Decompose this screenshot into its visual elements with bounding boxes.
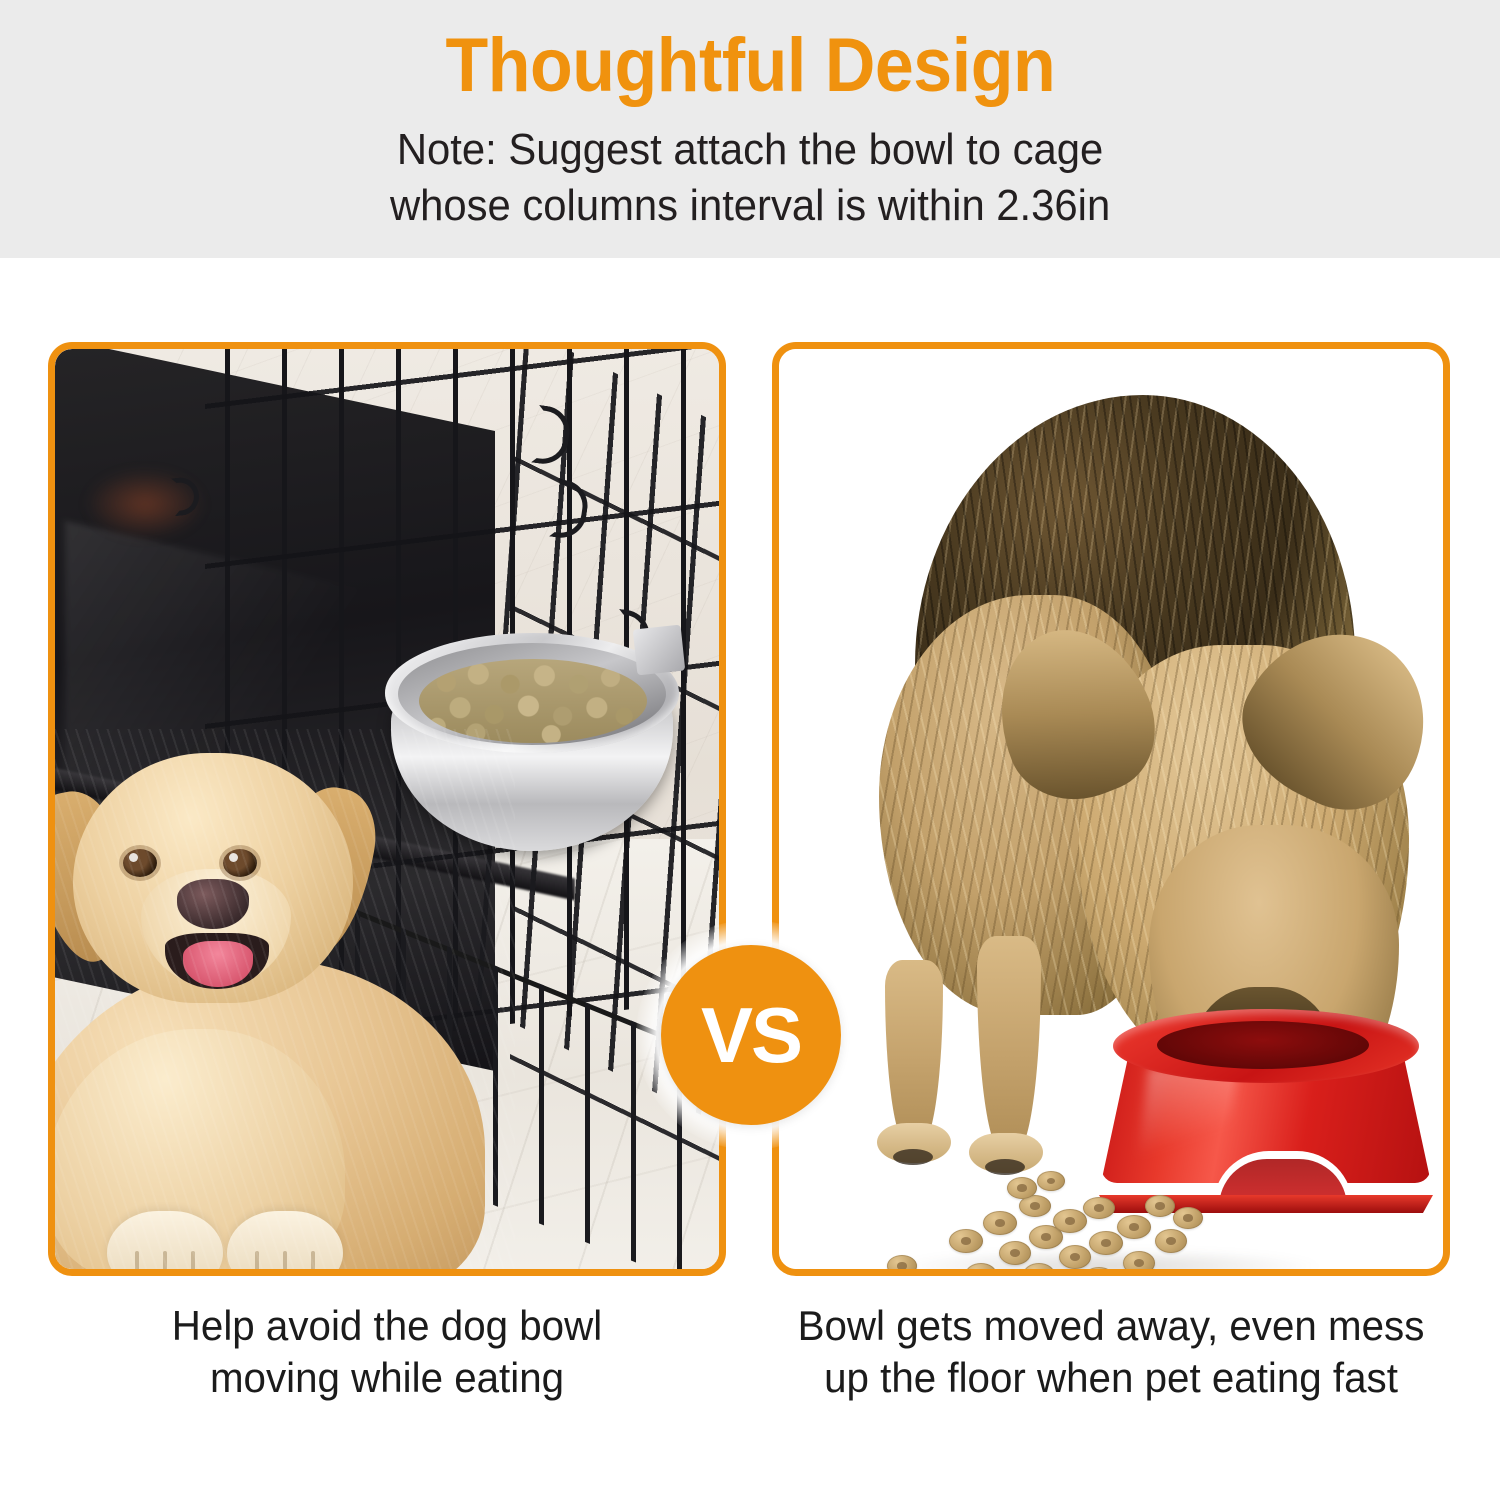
vs-badge-label: VS bbox=[701, 996, 801, 1074]
dog-eye-highlight bbox=[229, 853, 238, 862]
comparison-panel-left bbox=[48, 342, 726, 1276]
vs-badge: VS bbox=[661, 945, 841, 1125]
header-banner: Thoughtful Design Note: Suggest attach t… bbox=[0, 0, 1500, 258]
header-note: Note: Suggest attach the bowl to cage wh… bbox=[390, 122, 1110, 234]
bowl-mounting-bracket bbox=[633, 625, 686, 676]
photo-red-bowl-mess bbox=[779, 349, 1443, 1269]
caption-left-line-2: moving while eating bbox=[62, 1352, 713, 1404]
dog-front-leg-left bbox=[885, 960, 943, 1145]
caption-right: Bowl gets moved away, even mess up the f… bbox=[786, 1300, 1437, 1404]
caption-right-line-1: Bowl gets moved away, even mess bbox=[786, 1300, 1437, 1352]
comparison-panel-right bbox=[772, 342, 1450, 1276]
spilled-kibble bbox=[887, 1167, 1247, 1269]
dog-eye-right bbox=[223, 849, 257, 877]
dog-front-leg-right bbox=[977, 936, 1041, 1151]
dog-paw-pad bbox=[893, 1149, 933, 1165]
infographic-page: Thoughtful Design Note: Suggest attach t… bbox=[0, 0, 1500, 1500]
caption-left: Help avoid the dog bowl moving while eat… bbox=[62, 1300, 713, 1404]
bowl-opening bbox=[1157, 1021, 1369, 1069]
golden-retriever bbox=[55, 729, 515, 1269]
page-title: Thoughtful Design bbox=[445, 20, 1055, 112]
header-note-line-2: whose columns interval is within 2.36in bbox=[390, 178, 1110, 234]
header-note-line-1: Note: Suggest attach the bowl to cage bbox=[390, 122, 1110, 178]
dog-eye-left bbox=[123, 849, 157, 877]
caption-left-line-1: Help avoid the dog bowl bbox=[62, 1300, 713, 1352]
dog-tongue bbox=[183, 941, 253, 987]
photo-crate-bowl bbox=[55, 349, 719, 1269]
dog-eye-highlight bbox=[129, 853, 138, 862]
comparison-section: VS Help avoid the dog bowl moving while … bbox=[0, 258, 1500, 1500]
caption-right-line-2: up the floor when pet eating fast bbox=[786, 1352, 1437, 1404]
